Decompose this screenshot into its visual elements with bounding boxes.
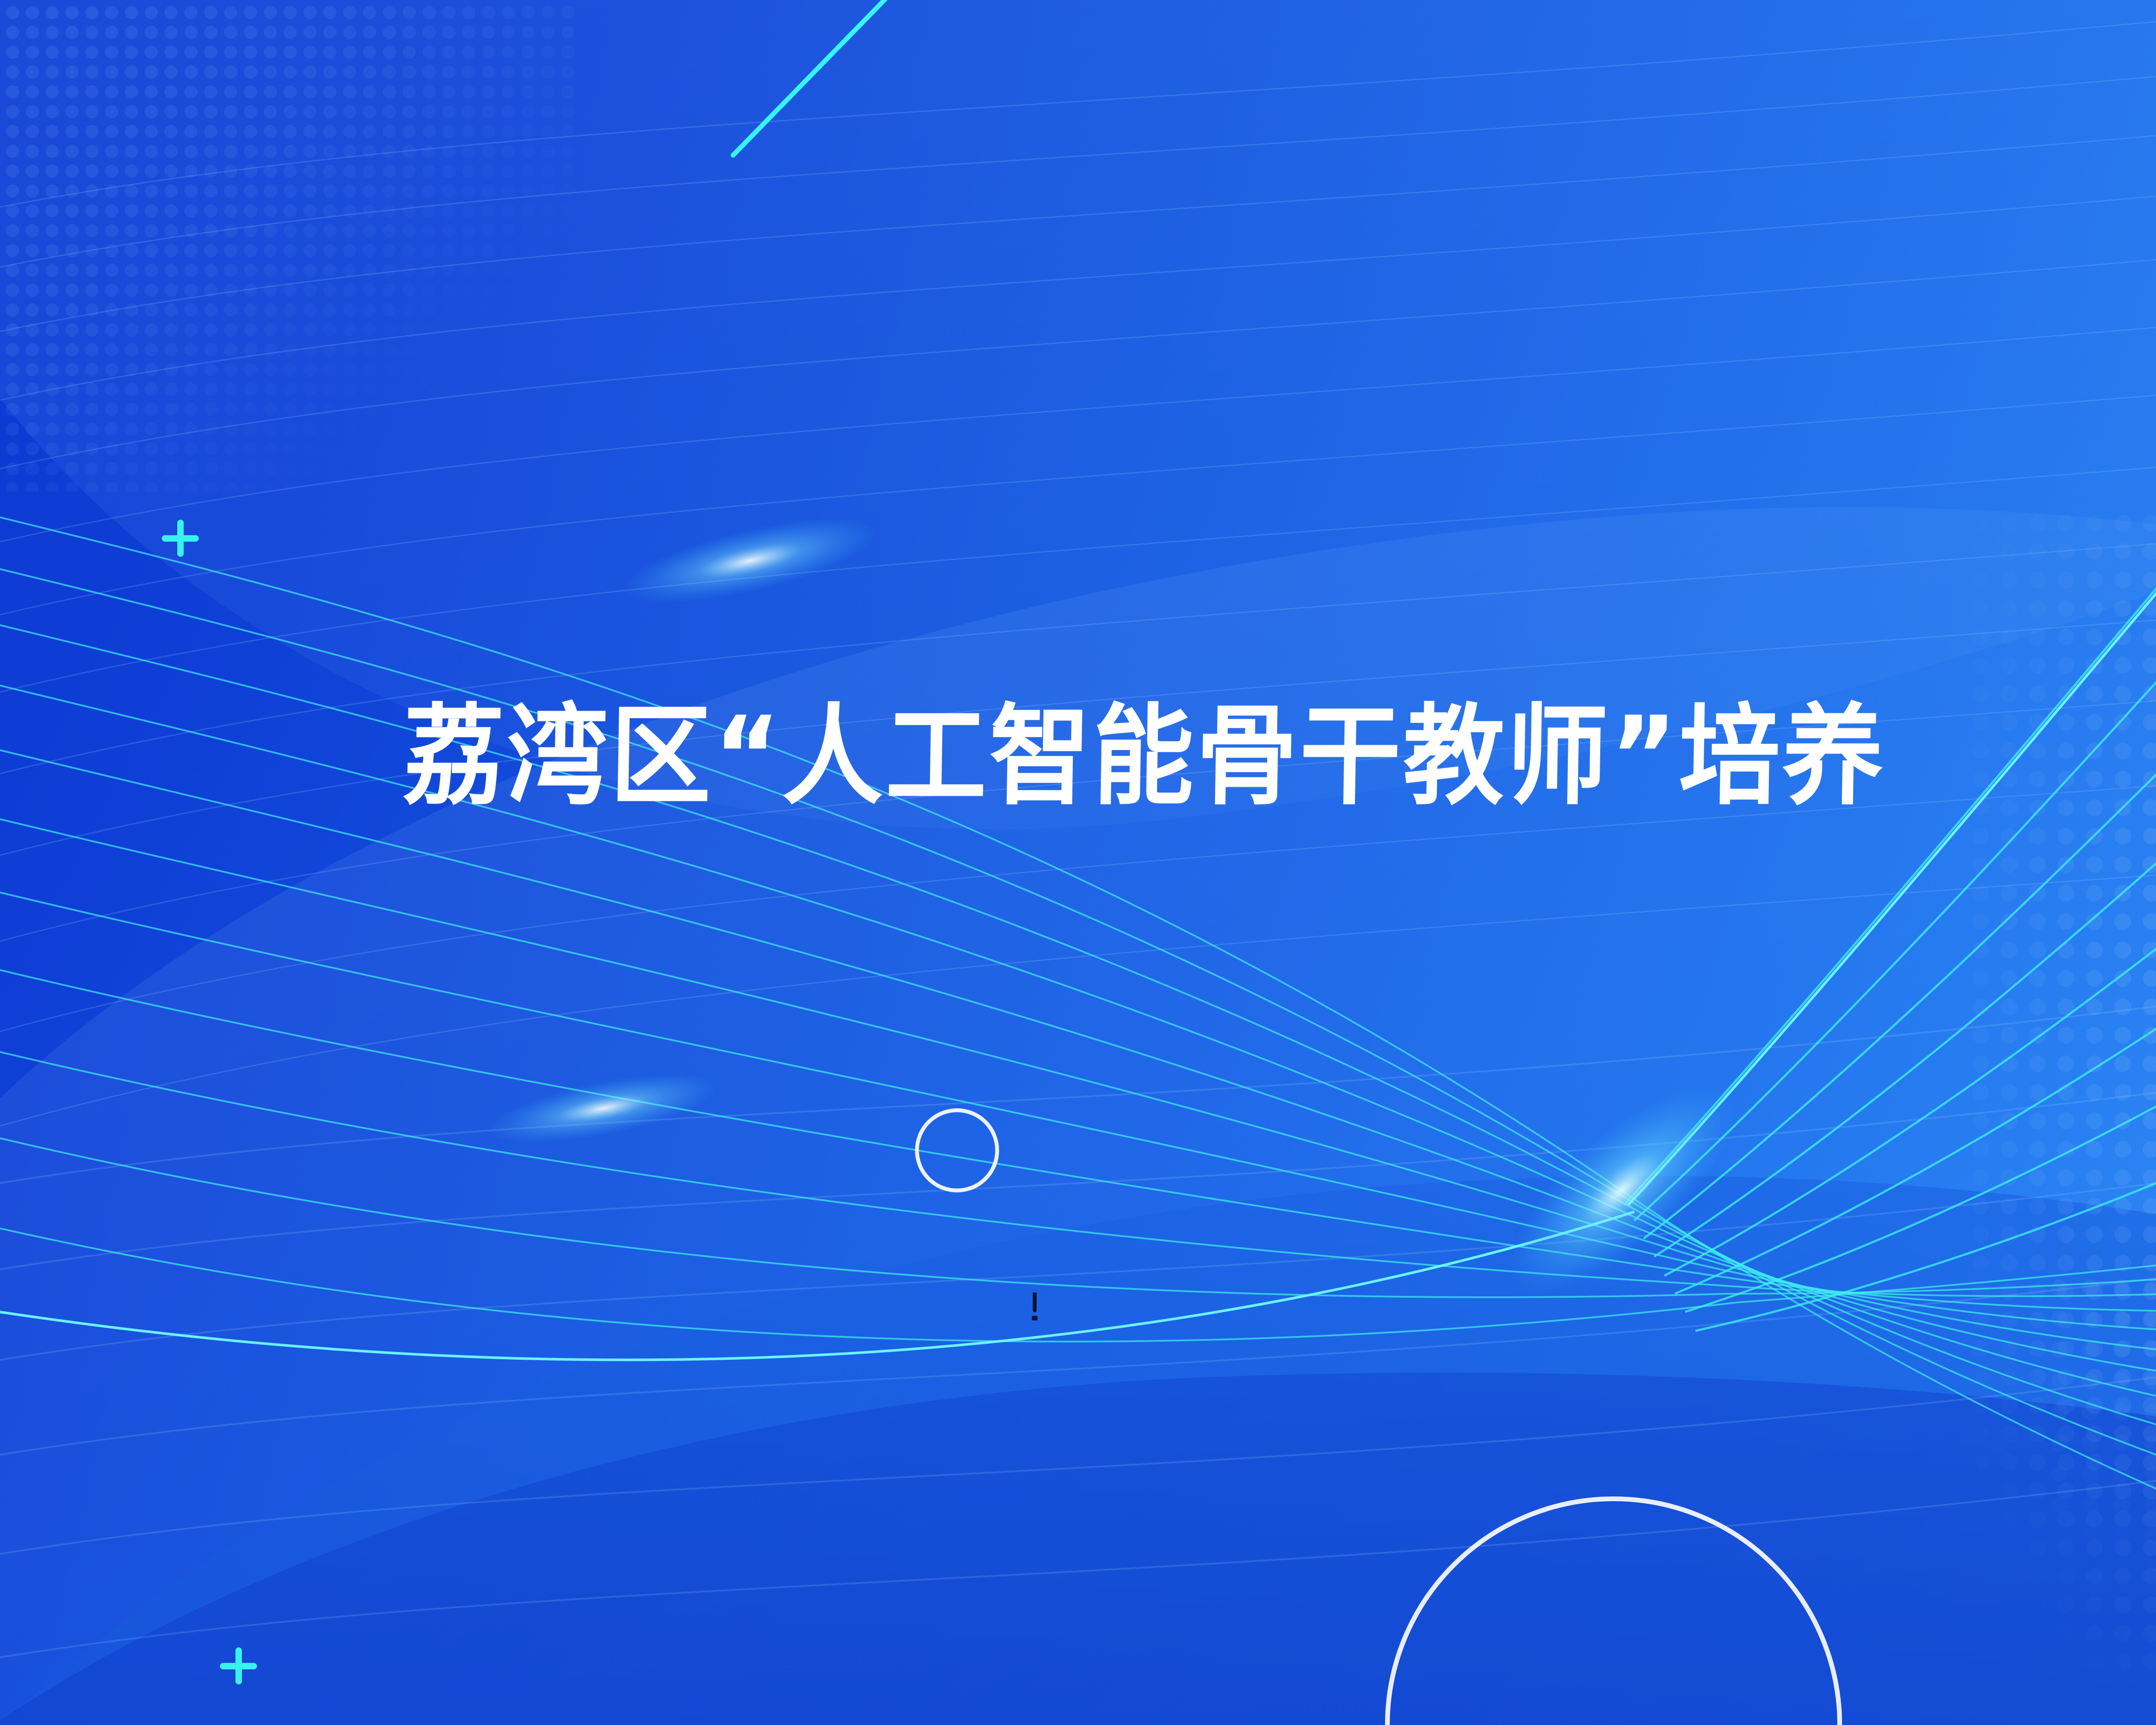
plus-icon-left	[162, 520, 199, 557]
halftone-dots-top-left	[0, 0, 578, 492]
streak-top-left	[733, 0, 901, 155]
circle-outline-small	[915, 1108, 999, 1192]
ribbon-glow-center	[1478, 1054, 1764, 1327]
plus-icon-bottom-left	[220, 1647, 257, 1684]
background-swoosh-middle	[0, 399, 2156, 1725]
poster-canvas: 荔湾区“人工智能骨干教师”培养	[0, 0, 2156, 1725]
background-swoosh-bottom	[0, 1083, 2156, 1725]
halftone-dots-bottom-right	[2044, 1272, 2156, 1725]
cyan-ribbon-lines	[0, 0, 2156, 1725]
circle-outline-large	[1385, 1496, 1842, 1725]
stray-caret-mark	[1033, 1292, 1037, 1312]
poster-title-block: 荔湾区“人工智能骨干教师”培养	[403, 684, 2156, 830]
cyan-streak-accents	[0, 0, 2156, 1725]
ribbon-glow-upper-left	[617, 501, 883, 620]
ribbon-glow-mid-left	[484, 1060, 723, 1157]
poster-title: 荔湾区“人工智能骨干教师”培养	[402, 700, 1887, 814]
faint-wave-lines	[0, 0, 2156, 1725]
